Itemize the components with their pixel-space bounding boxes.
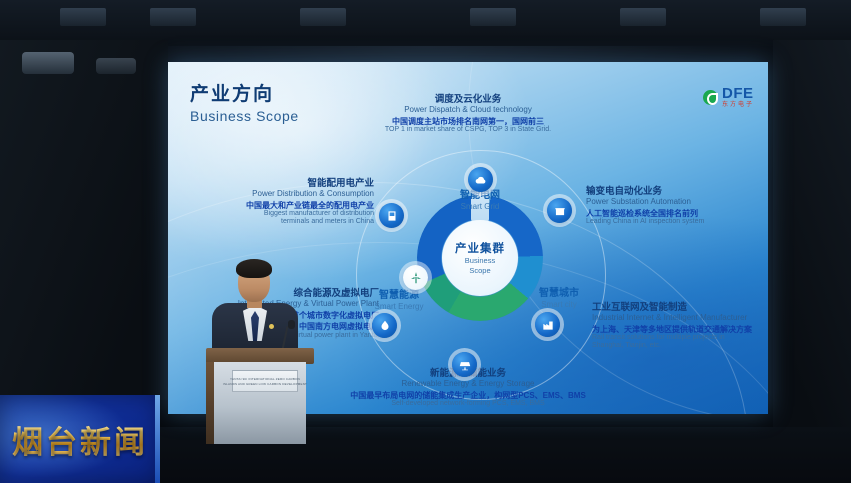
block-substation-cn1: 输变电自动化业务 bbox=[586, 186, 768, 197]
block-substation-en1: Power Substation Automation bbox=[586, 197, 768, 206]
block-industrial-cn2: 为上海、天津等多地区提供轨道交通解决方案 bbox=[592, 325, 768, 334]
speaker-lapel-pin bbox=[269, 324, 274, 329]
donut-center-label: 产业集群 Business Scope bbox=[442, 220, 518, 296]
hub-label-smart-energy: 智慧能源 Smart Energy bbox=[362, 290, 436, 311]
cloud-grid-icon bbox=[474, 173, 488, 187]
logo-abbr: DFE bbox=[722, 86, 754, 101]
wall-left bbox=[0, 40, 168, 400]
slide-title: 产业方向 Business Scope bbox=[190, 84, 299, 124]
block-distribution-cn2: 中国最大和产业链最全的配用电产业 bbox=[174, 201, 374, 210]
donut-center-en1: Business bbox=[465, 256, 495, 266]
hub-label-smart-energy-en: Smart Energy bbox=[362, 302, 436, 311]
node-smart-grid bbox=[468, 167, 493, 192]
hub-label-smart-city-en: Smart city bbox=[522, 300, 596, 309]
donut-center-cn: 产业集群 bbox=[455, 240, 505, 256]
block-dispatch-en1: Power Dispatch & Cloud technology bbox=[288, 105, 648, 114]
node-distribution bbox=[379, 203, 404, 228]
node-smart-city bbox=[535, 312, 560, 337]
podium-face: YANTAI 9th INTERNATIONAL ZERO CARBON ISL… bbox=[214, 362, 306, 444]
block-industrial-en2a: Rail transit solutions for multiple proj… bbox=[592, 334, 768, 342]
block-industrial-internet: 工业互联网及智能制造 Industrial Internet & Intelli… bbox=[592, 302, 768, 351]
block-substation-automation: 输变电自动化业务 Power Substation Automation 人工智… bbox=[586, 186, 768, 226]
dfe-leaf-logo-icon bbox=[703, 90, 718, 105]
wall-right bbox=[773, 40, 851, 440]
substation-tower-icon bbox=[553, 204, 567, 218]
slide-title-cn: 产业方向 bbox=[190, 84, 299, 106]
logo-name-cn: 东方电子 bbox=[722, 102, 754, 108]
podium-plate-line1: YANTAI 9th INTERNATIONAL ZERO CARBON bbox=[230, 377, 300, 381]
factory-icon bbox=[541, 318, 555, 332]
block-power-dispatch: 调度及云化业务 Power Dispatch & Cloud technolog… bbox=[288, 94, 648, 134]
hub-label-smart-grid-en: Smart Grid bbox=[435, 202, 525, 211]
block-industrial-en1: Industrial Internet & Intelligent Manufa… bbox=[592, 313, 768, 322]
podium-plate-line2: ISLANDS AND GREEN LOW CARBON DEVELOPMENT bbox=[223, 382, 307, 386]
news-channel-banner: 烟台新闻 bbox=[0, 395, 160, 483]
speaker-hair bbox=[236, 259, 272, 278]
hub-label-smart-city: 智慧城市 Smart city bbox=[522, 288, 596, 309]
podium-nameplate: YANTAI 9th INTERNATIONAL ZERO CARBON ISL… bbox=[232, 370, 298, 392]
block-distribution-en2b: terminals and meters in China bbox=[174, 218, 374, 226]
hub-label-smart-grid: 智能电网 Smart Grid bbox=[435, 190, 525, 211]
block-vpp-cn1: 综合能源及虚拟电厂 bbox=[168, 288, 379, 299]
battery-drop-icon bbox=[378, 319, 392, 333]
block-dispatch-cn2: 中国调度主站市场排名南网第一，国网前三 bbox=[288, 117, 648, 126]
ceiling-lamp bbox=[22, 52, 74, 74]
news-channel-banner-text: 烟台新闻 bbox=[12, 417, 148, 462]
node-wind bbox=[403, 265, 428, 290]
block-distribution-en2a: Biggest manufacturer of distribution bbox=[174, 210, 374, 218]
wind-turbine-icon bbox=[409, 271, 423, 285]
block-industrial-en2b: Shanghai, Tianjin, etc. bbox=[592, 342, 768, 350]
block-distribution-en1: Power Distribution & Consumption bbox=[174, 189, 374, 198]
block-industrial-cn1: 工业互联网及智能制造 bbox=[592, 302, 768, 313]
block-renewable-en2: Self-developed network-forming PCS, EMS,… bbox=[268, 400, 668, 408]
dfe-logo: DFE 东方电子 bbox=[703, 86, 754, 108]
meter-box-icon bbox=[385, 209, 399, 223]
node-substation bbox=[547, 198, 572, 223]
donut-center-en2: Scope bbox=[469, 266, 490, 276]
video-frame: 产业方向 Business Scope DFE 东方电子 调度及云化业务 Pow… bbox=[0, 0, 851, 483]
podium: YANTAI 9th INTERNATIONAL ZERO CARBON ISL… bbox=[206, 348, 314, 444]
block-power-distribution: 智能配用电产业 Power Distribution & Consumption… bbox=[174, 178, 374, 227]
ceiling-lamp bbox=[96, 58, 136, 74]
node-energy-storage bbox=[372, 313, 397, 338]
slide-title-en: Business Scope bbox=[190, 108, 299, 124]
hub-label-smart-energy-cn: 智慧能源 bbox=[362, 290, 436, 302]
block-substation-en2: Leading China in AI inspection system bbox=[586, 218, 768, 226]
block-dispatch-cn1: 调度及云化业务 bbox=[288, 94, 648, 105]
hub-label-smart-city-cn: 智慧城市 bbox=[522, 288, 596, 300]
solar-panel-icon bbox=[458, 358, 472, 372]
block-substation-cn2: 人工智能巡检系统全国排名前列 bbox=[586, 209, 768, 218]
microphone-icon bbox=[288, 320, 295, 329]
node-renewable bbox=[452, 352, 477, 377]
block-dispatch-en2: TOP 1 in market share of CSPG, TOP 3 in … bbox=[288, 126, 648, 134]
block-distribution-cn1: 智能配用电产业 bbox=[174, 178, 374, 189]
block-renewable-en1: Renewable Energy & Energy Storage bbox=[268, 379, 668, 388]
block-renewable-cn2: 中国最早布局电网的储能集成生产企业，构网型PCS、EMS、BMS bbox=[268, 391, 668, 400]
